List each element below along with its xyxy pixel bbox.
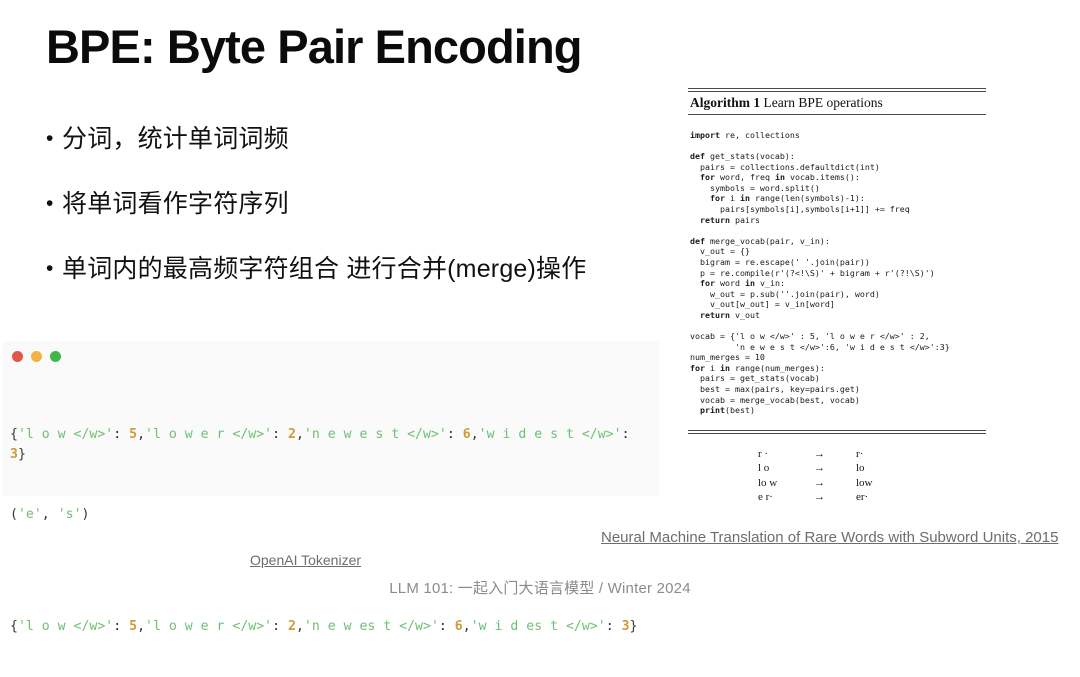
openai-tokenizer-link[interactable]: OpenAI Tokenizer [250, 552, 361, 568]
bullet-text: 分词，统计单词词频 [62, 122, 289, 156]
terminal-window: {'l o w </w>': 5,'l o w e r </w>': 2,'n … [2, 341, 659, 496]
table-row: e r· → er· [758, 490, 986, 505]
maximize-icon[interactable] [50, 351, 61, 362]
close-icon[interactable] [12, 351, 23, 362]
merge-from: r · [758, 447, 814, 462]
table-row: l o → lo [758, 461, 986, 476]
bullet-point-icon: • [46, 187, 62, 221]
algorithm-figure: Algorithm 1 Learn BPE operations import … [688, 88, 986, 505]
list-item: • 单词内的最高频字符组合 进行合并(merge)操作 [46, 252, 686, 286]
window-controls [12, 351, 61, 362]
minimize-icon[interactable] [31, 351, 42, 362]
bullet-text: 将单词看作字符序列 [62, 187, 289, 221]
bullet-list: • 分词，统计单词词频 • 将单词看作字符序列 • 单词内的最高频字符组合 进行… [46, 122, 686, 317]
bullet-point-icon: • [46, 252, 62, 286]
list-item: • 将单词看作字符序列 [46, 187, 686, 221]
algorithm-label: Algorithm 1 [690, 95, 760, 110]
list-item: • 分词，统计单词词频 [46, 122, 686, 156]
arrow-icon: → [814, 490, 856, 505]
merge-to: low [856, 476, 916, 491]
terminal-output: {'l o w </w>': 5,'l o w e r </w>': 2,'n … [10, 385, 653, 677]
arrow-icon: → [814, 461, 856, 476]
slide-footer: LLM 101: 一起入门大语言模型 / Winter 2024 [0, 577, 1080, 598]
merge-operations-table: r · → r· l o → lo lo w → low e r· → er· [688, 447, 986, 505]
algorithm-title-text: Learn BPE operations [760, 95, 883, 110]
merge-from: l o [758, 461, 814, 476]
terminal-line: {'l o w </w>': 5,'l o w e r </w>': 2,'n … [10, 425, 653, 465]
page-title: BPE: Byte Pair Encoding [46, 20, 582, 74]
terminal-line: ('e', 's') [10, 505, 653, 525]
terminal-line: {'l o w </w>': 5,'l o w e r </w>': 2,'n … [10, 617, 653, 637]
merge-from: e r· [758, 490, 814, 505]
paper-reference-link[interactable]: Neural Machine Translation of Rare Words… [601, 529, 1058, 546]
divider-bottom [688, 430, 986, 434]
merge-from: lo w [758, 476, 814, 491]
table-row: r · → r· [758, 447, 986, 462]
bullet-point-icon: • [46, 122, 62, 156]
bullet-text: 单词内的最高频字符组合 进行合并(merge)操作 [62, 252, 586, 286]
algorithm-code: import re, collections def get_stats(voc… [688, 123, 986, 422]
arrow-icon: → [814, 447, 856, 462]
arrow-icon: → [814, 476, 856, 491]
table-row: lo w → low [758, 476, 986, 491]
merge-to: r· [856, 447, 916, 462]
algorithm-title: Algorithm 1 Learn BPE operations [688, 92, 986, 114]
divider-mid [688, 114, 986, 115]
merge-to: lo [856, 461, 916, 476]
merge-to: er· [856, 490, 916, 505]
